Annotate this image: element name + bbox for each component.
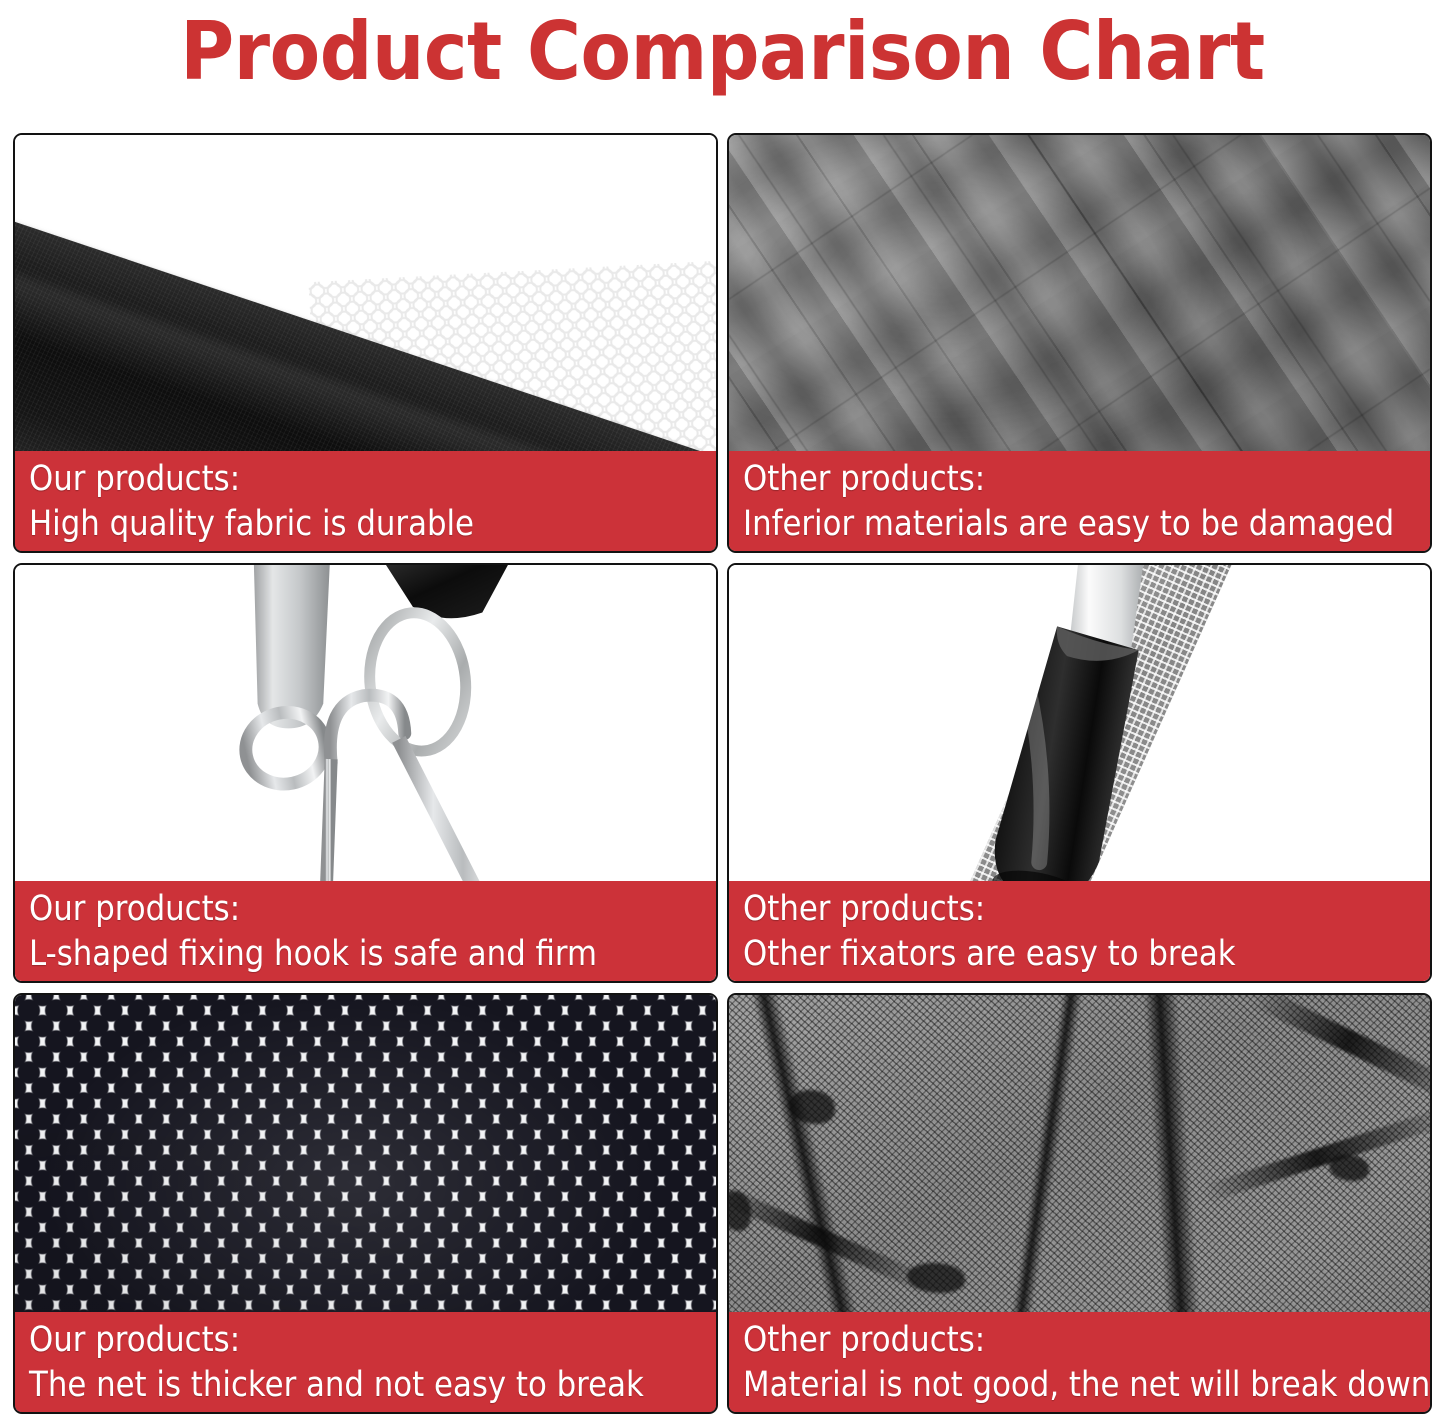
caption-bar: Our products: The net is thicker and not… [15, 1312, 716, 1412]
comparison-panel-net-other: Other products: Material is not good, th… [727, 993, 1432, 1414]
split-ring [363, 608, 472, 756]
caption-heading: Other products: [743, 887, 1335, 932]
caption-heading: Other products: [743, 1318, 1335, 1363]
caption-bar: Other products: Inferior materials are e… [729, 451, 1430, 551]
black-plastic-cap [995, 626, 1139, 901]
comparison-grid: Our products: High quality fabric is dur… [13, 133, 1432, 1414]
product-comparison-chart: Product Comparison Chart Our products: H… [0, 0, 1445, 1422]
comparison-panel-hook-ours: Our products: L-shaped fixing hook is sa… [13, 563, 718, 983]
hook-bend [330, 695, 404, 763]
comparison-panel-net-ours: Our products: The net is thicker and not… [13, 993, 718, 1414]
caption-bar: Other products: Other fixators are easy … [729, 881, 1430, 981]
caption-heading: Our products: [29, 1318, 621, 1363]
comparison-panel-fabric-ours: Our products: High quality fabric is dur… [13, 133, 718, 553]
comparison-panel-hook-other: Other products: Other fixators are easy … [727, 563, 1432, 983]
caption-bar: Our products: L-shaped fixing hook is sa… [15, 881, 716, 981]
caption-description: High quality fabric is durable [29, 502, 621, 547]
caption-bar: Our products: High quality fabric is dur… [15, 451, 716, 551]
caption-heading: Our products: [29, 457, 621, 502]
caption-description: The net is thicker and not easy to break [29, 1363, 621, 1408]
page-title: Product Comparison Chart [58, 4, 1387, 100]
caption-description: Inferior materials are easy to be damage… [743, 502, 1335, 547]
comparison-panel-fabric-other: Other products: Inferior materials are e… [727, 133, 1432, 553]
caption-description: Material is not good, the net will break… [743, 1363, 1335, 1408]
pole-cap [254, 565, 331, 728]
caption-bar: Other products: Material is not good, th… [729, 1312, 1430, 1412]
caption-heading: Our products: [29, 887, 621, 932]
caption-heading: Other products: [743, 457, 1335, 502]
d-ring [239, 705, 332, 791]
caption-description: L-shaped fixing hook is safe and firm [29, 932, 621, 977]
caption-description: Other fixators are easy to break [743, 932, 1335, 977]
